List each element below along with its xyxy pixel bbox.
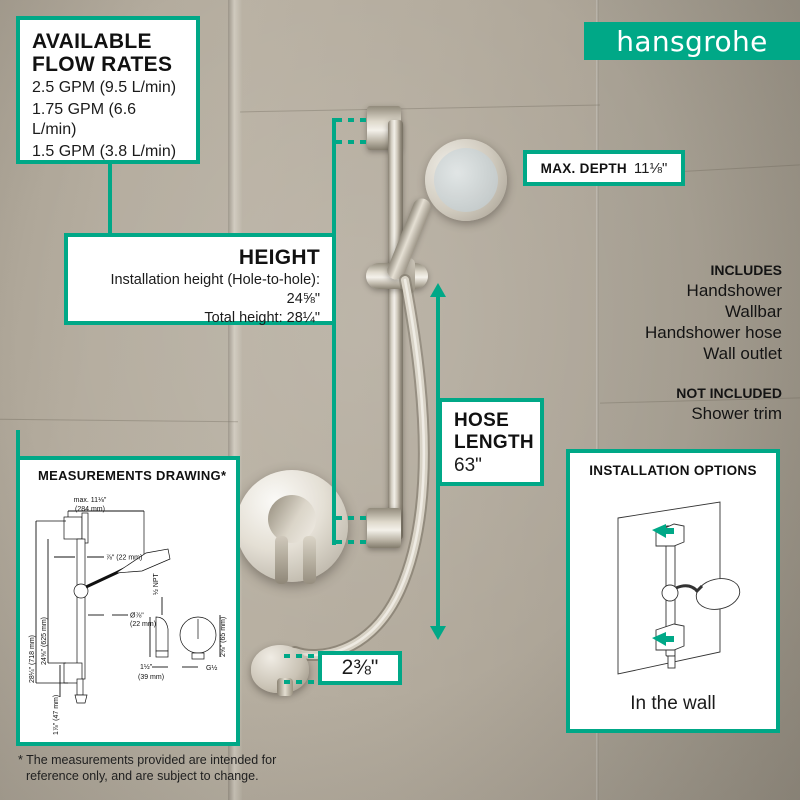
dim-bottom-offset: 1⅞" (47 mm) bbox=[53, 695, 60, 735]
outlet-dimension-callout: 2⅜" bbox=[318, 651, 402, 685]
dim-outlet-depth-mm: (39 mm) bbox=[138, 674, 164, 681]
max-depth-value: 11⅛" bbox=[634, 160, 667, 177]
dim-npt: ½ NPT bbox=[152, 572, 160, 595]
dim-outlet-depth-2: 1½" bbox=[140, 663, 153, 671]
includes-block: INCLUDES Handshower Wallbar Handshower h… bbox=[552, 260, 782, 364]
height-callout: HEIGHT Installation height (Hole-to-hole… bbox=[64, 233, 336, 325]
dim-total-height: 28¼" (718 mm) bbox=[29, 635, 36, 683]
includes-item: Wall outlet bbox=[552, 343, 782, 364]
hose-length-title-line2: LENGTH bbox=[454, 432, 540, 454]
height-title: HEIGHT bbox=[80, 245, 320, 271]
outlet-dimension-value: 2⅜" bbox=[342, 656, 379, 680]
leader-height-vertical bbox=[332, 118, 336, 234]
hose-length-title-line1: HOSE bbox=[454, 410, 540, 432]
installation-options-callout: INSTALLATION OPTIONS bbox=[566, 449, 780, 733]
dim-max-width-in: max. 11⅛" bbox=[74, 497, 107, 504]
includes-item: Handshower bbox=[552, 280, 782, 301]
dim-bar-dia: ⅞" (22 mm) bbox=[106, 555, 142, 562]
installation-height-value: Installation height (Hole-to-hole): 24⅝" bbox=[80, 271, 320, 309]
not-included-item: Shower trim bbox=[552, 403, 782, 424]
hansgrohe-logo: hansgrohe bbox=[584, 22, 800, 60]
infographic-canvas: hansgrohe AVAILABLE FLOW RATES 2.5 GPM (… bbox=[0, 0, 800, 800]
logo-text: hansgrohe bbox=[616, 25, 768, 58]
measurements-drawing-callout: MEASUREMENTS DRAWING* bbox=[16, 456, 240, 746]
footnote: * The measurements provided are intended… bbox=[18, 752, 278, 784]
hose-length-callout: HOSE LENGTH 63" bbox=[438, 398, 544, 486]
footnote-line-2: reference only, and are subject to chang… bbox=[18, 768, 278, 784]
leader-measurements bbox=[16, 430, 20, 458]
measurements-technical-drawing: max. 11⅛" (284 mm) x ⅞" (22 mm) Ø⅞" (22 … bbox=[20, 487, 236, 739]
footnote-line-1: * The measurements provided are intended… bbox=[18, 753, 276, 767]
hose-length-value: 63" bbox=[454, 454, 540, 478]
dashed-leader-icon bbox=[336, 118, 370, 122]
dim-outlet-dia: 2⅝" (65 mm) bbox=[220, 617, 227, 657]
flow-rate-item: 1.5 GPM (3.8 L/min) bbox=[32, 142, 184, 162]
max-depth-callout: MAX. DEPTH 11⅛" bbox=[523, 150, 685, 186]
dim-thread: G½ bbox=[206, 664, 217, 672]
flow-rate-item: 1.75 GPM (6.6 L/min) bbox=[32, 100, 184, 140]
leader-height-lower bbox=[332, 325, 336, 545]
installation-diagram bbox=[570, 480, 776, 690]
total-height-value: Total height: 28¼" bbox=[80, 309, 320, 328]
flow-rates-title-line2: FLOW RATES bbox=[32, 53, 184, 76]
includes-heading: INCLUDES bbox=[552, 260, 782, 280]
dim-hose-dia-mm: (22 mm) bbox=[130, 621, 156, 628]
dashed-leader-icon bbox=[336, 140, 370, 144]
leader-flow-to-height bbox=[108, 164, 112, 233]
dim-install-height: 24⅝" (625 mm) bbox=[41, 617, 48, 665]
not-included-heading: NOT INCLUDED bbox=[552, 383, 782, 403]
flow-rates-callout: AVAILABLE FLOW RATES 2.5 GPM (9.5 L/min)… bbox=[16, 16, 200, 164]
includes-item: Wallbar bbox=[552, 301, 782, 322]
installation-caption: In the wall bbox=[570, 693, 776, 715]
not-included-block: NOT INCLUDED Shower trim bbox=[552, 383, 782, 424]
dashed-leader-icon bbox=[336, 516, 370, 520]
includes-item: Handshower hose bbox=[552, 322, 782, 343]
dashed-leader-icon bbox=[284, 654, 320, 658]
dim-hose-dia: Ø⅞" bbox=[130, 613, 144, 620]
dim-max-width-mm-visible: (284 mm) bbox=[75, 506, 105, 513]
max-depth-label: MAX. DEPTH bbox=[541, 161, 627, 176]
flow-rates-title-line1: AVAILABLE bbox=[32, 30, 184, 53]
installation-options-title: INSTALLATION OPTIONS bbox=[570, 463, 776, 478]
dashed-leader-icon bbox=[336, 540, 370, 544]
arrow-down-icon bbox=[430, 626, 446, 640]
measurements-drawing-title: MEASUREMENTS DRAWING* bbox=[20, 468, 236, 483]
dashed-leader-icon bbox=[284, 680, 320, 684]
flow-rate-item: 2.5 GPM (9.5 L/min) bbox=[32, 78, 184, 98]
arrow-up-icon bbox=[430, 283, 446, 297]
